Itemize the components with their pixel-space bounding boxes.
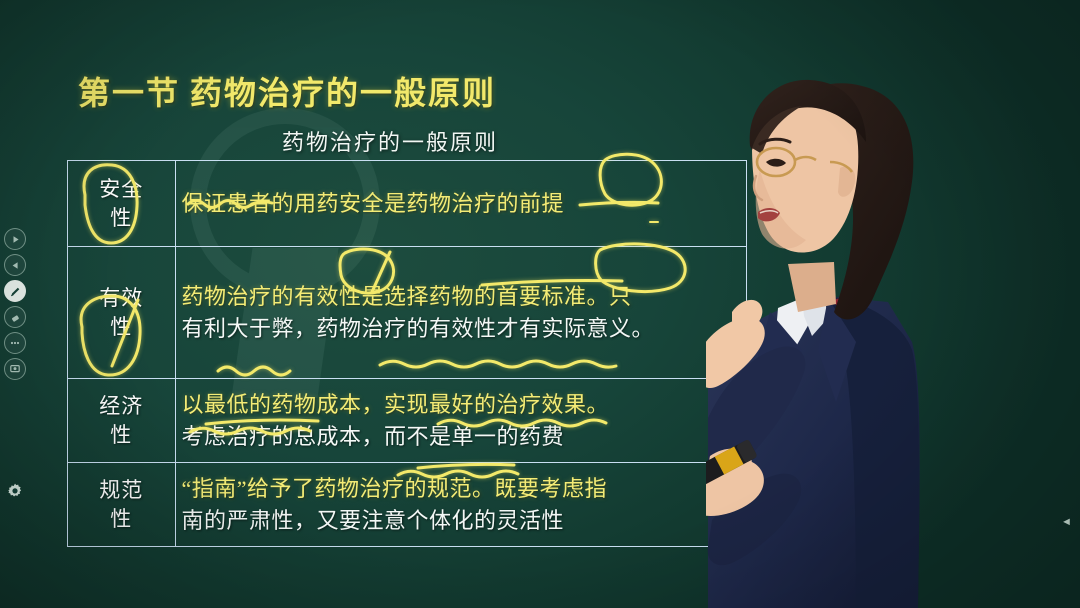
row-body-norm: “指南”给予了药物治疗的规范。既要考虑指 南的严肃性，又要注意个体化的灵活性	[175, 463, 746, 547]
screenshot-icon[interactable]	[4, 358, 26, 380]
table-row: 经济 性 以最低的药物成本，实现最好的治疗效果。 考虑治疗的总成本，而不是单一的…	[68, 379, 747, 463]
corner-marker-icon: ◄	[1061, 518, 1070, 527]
row-text-line: 药物治疗的有效性是选择药物的首要标准。只	[182, 281, 740, 312]
principles-table: 安全 性 保证患者的用药安全是药物治疗的前提 有效 性 药物治疗的有效性是选择药…	[67, 160, 747, 547]
table-row: 有效 性 药物治疗的有效性是选择药物的首要标准。只 有利大于弊，药物治疗的有效性…	[68, 247, 747, 379]
table-row: 安全 性 保证患者的用药安全是药物治疗的前提	[68, 161, 747, 247]
eraser-icon[interactable]	[4, 306, 26, 328]
play-icon[interactable]	[4, 228, 26, 250]
row-label-line1: 有效	[74, 284, 169, 313]
video-toolbar	[4, 228, 32, 380]
row-text-line: 以最低的药物成本，实现最好的治疗效果。	[182, 389, 740, 420]
row-body-safety: 保证患者的用药安全是药物治疗的前提	[175, 161, 746, 247]
row-text-line: 保证患者的用药安全是药物治疗的前提	[182, 188, 740, 219]
pen-icon[interactable]	[4, 280, 26, 302]
presenter-figure	[706, 50, 1080, 608]
table-row: 规范 性 “指南”给予了药物治疗的规范。既要考虑指 南的严肃性，又要注意个体化的…	[68, 463, 747, 547]
row-label-line1: 安全	[74, 175, 169, 204]
row-label-safety: 安全 性	[68, 161, 176, 247]
row-label-line2: 性	[74, 313, 169, 342]
row-text-line: 有利大于弊，药物治疗的有效性才有实际意义。	[182, 313, 740, 344]
lecture-video-frame: 第一节 药物治疗的一般原则 药物治疗的一般原则 安全 性 保证患者的用药安全是药…	[0, 0, 1080, 608]
page-title: 第一节 药物治疗的一般原则	[78, 68, 496, 114]
row-text-line: 考虑治疗的总成本，而不是单一的药费	[182, 421, 740, 452]
row-text-line: “指南”给予了药物治疗的规范。既要考虑指	[182, 473, 740, 504]
row-body-economy: 以最低的药物成本，实现最好的治疗效果。 考虑治疗的总成本，而不是单一的药费	[175, 379, 746, 463]
row-label-efficacy: 有效 性	[68, 247, 176, 379]
row-label-line1: 规范	[74, 476, 169, 505]
row-text-line: 南的严肃性，又要注意个体化的灵活性	[182, 505, 740, 536]
row-label-norm: 规范 性	[68, 463, 176, 547]
row-label-line2: 性	[74, 505, 169, 534]
page-subtitle: 药物治疗的一般原则	[282, 125, 498, 157]
more-icon[interactable]	[4, 332, 26, 354]
row-label-line2: 性	[74, 204, 169, 233]
row-label-line1: 经济	[74, 392, 169, 421]
row-label-economy: 经济 性	[68, 379, 176, 463]
gear-icon[interactable]	[5, 481, 25, 501]
row-body-efficacy: 药物治疗的有效性是选择药物的首要标准。只 有利大于弊，药物治疗的有效性才有实际意…	[175, 247, 746, 379]
row-label-line2: 性	[74, 421, 169, 450]
previous-icon[interactable]	[4, 254, 26, 276]
